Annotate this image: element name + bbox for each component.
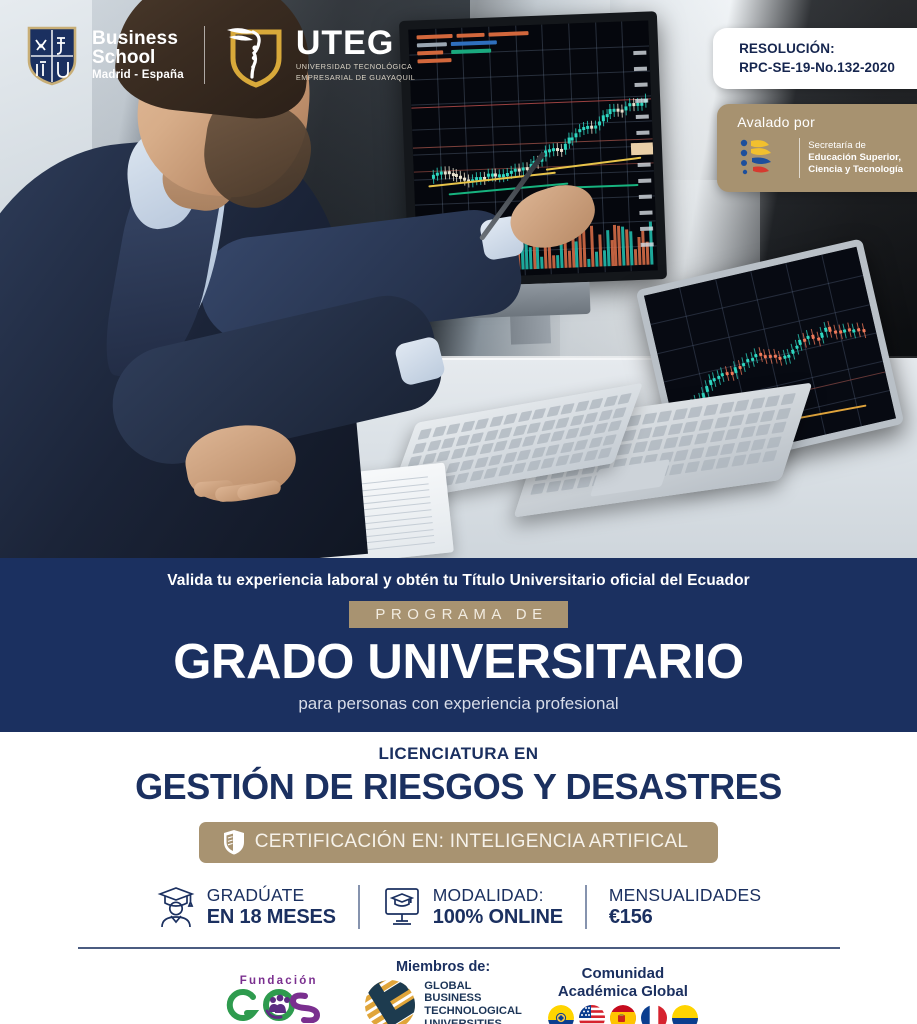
feature-1-top: MODALIDAD: <box>433 885 563 905</box>
uteg-text: UTEG UNIVERSIDAD TECNOLÓGICA EMPRESARIAL… <box>296 27 416 82</box>
flag-colombia <box>672 1005 698 1024</box>
claim-text: Valida tu experiencia laboral y obtén tu… <box>0 572 917 590</box>
comunidad-line2: Académica Global <box>558 983 688 1000</box>
shield-check-icon <box>223 829 245 855</box>
bs-line3: Madrid - España <box>92 70 184 82</box>
gbtu-block: Miembros de: <box>364 959 522 1024</box>
gbtu-l4: UNIVERSITIES <box>424 1018 522 1024</box>
gbtu-text: GLOBAL BUSINESS TECHNOLOGICAL UNIVERSITI… <box>424 980 522 1024</box>
feature-divider-1 <box>358 885 360 929</box>
feature-2-bottom: €156 <box>609 906 761 929</box>
accreditation-badge: Avalado por Secretaría de Educación Supe… <box>717 104 917 192</box>
flag-france <box>641 1005 667 1024</box>
flags-row <box>548 1005 698 1024</box>
uteg-line2: EMPRESARIAL DE GUAYAQUIL <box>296 73 416 82</box>
fundacion-word: Fundación <box>240 975 318 987</box>
avalado-title: Avalado por <box>737 114 903 130</box>
logo-divider <box>204 26 205 84</box>
gos-people-icon <box>223 987 335 1023</box>
graduate-cap-person-icon <box>156 885 196 929</box>
comunidad-title: Comunidad Académica Global <box>558 965 688 1000</box>
feature-divider-2 <box>585 885 587 929</box>
senescyt-line3: Ciencia y Tecnología <box>808 164 903 176</box>
feature-price-text: MENSUALIDADES €156 <box>609 885 761 928</box>
uteg-winged-shield-icon <box>225 22 287 88</box>
uteg-logo: UTEG UNIVERSIDAD TECNOLÓGICA EMPRESARIAL… <box>225 22 416 88</box>
comunidad-line1: Comunidad <box>558 965 688 982</box>
footer-divider <box>78 947 840 949</box>
resolution-label: RESOLUCIÓN: <box>739 39 895 58</box>
miembros-label: Miembros de: <box>396 959 490 975</box>
feature-0-bottom: EN 18 MESES <box>207 906 336 929</box>
main-title: GRADO UNIVERSITARIO <box>0 638 917 687</box>
senescyt-text: Secretaría de Educación Superior, Cienci… <box>808 140 903 176</box>
senescyt-divider <box>799 138 800 178</box>
shield-crest-icon <box>26 24 78 86</box>
senescyt-logo-icon <box>737 136 791 180</box>
senescyt-line2: Educación Superior, <box>808 152 903 164</box>
business-school-name: Business School Madrid - España <box>92 29 184 82</box>
feature-modality: MODALIDAD: 100% ONLINE <box>360 885 585 928</box>
features-row: GRADÚATE EN 18 MESES MODALIDAD: <box>0 885 917 929</box>
partners-footer: Fundación LEGADO DE SOLIDARIDAD Miembros… <box>0 959 917 1024</box>
bs-line1: Business <box>92 29 184 48</box>
headline-band: Valida tu experiencia laboral y obtén tu… <box>0 558 917 732</box>
program-badge: PROGRAMA DE <box>349 601 567 628</box>
feature-0-top: GRADÚATE <box>207 885 336 905</box>
degree-name: GESTIÓN DE RIESGOS Y DESASTRES <box>0 766 917 808</box>
flag-usa <box>579 1005 605 1024</box>
feature-price: MENSUALIDADES €156 <box>587 885 783 928</box>
fundacion-gos-logo: Fundación LEGADO DE SOLIDARIDAD <box>219 975 338 1024</box>
certification-badge: CERTIFICACIÓN EN: INTELIGENCIA ARTIFICAL <box>199 822 719 863</box>
main-subtitle: para personas con experiencia profesiona… <box>0 694 917 714</box>
bs-line2: School <box>92 48 184 67</box>
promotional-poster: Business School Madrid - España UTEG UN <box>0 0 917 1024</box>
senescyt-line1: Secretaría de <box>808 140 903 152</box>
program-details: LICENCIATURA EN GESTIÓN DE RIESGOS Y DES… <box>0 732 917 1024</box>
gbtu-l1: GLOBAL <box>424 980 522 993</box>
feature-modality-text: MODALIDAD: 100% ONLINE <box>433 885 563 928</box>
flag-spain <box>610 1005 636 1024</box>
comunidad-academica-block: Comunidad Académica Global <box>548 965 698 1024</box>
uteg-line1: UNIVERSIDAD TECNOLÓGICA <box>296 62 416 71</box>
certification-text: CERTIFICACIÓN EN: INTELIGENCIA ARTIFICAL <box>255 831 689 853</box>
hero-image: Business School Madrid - España UTEG UN <box>0 0 917 558</box>
feature-duration-text: GRADÚATE EN 18 MESES <box>207 885 336 928</box>
feature-1-bottom: 100% ONLINE <box>433 906 563 929</box>
flag-ecuador <box>548 1005 574 1024</box>
gbtu-l3: TECHNOLOGICAL <box>424 1005 522 1018</box>
online-monitor-icon <box>382 886 422 928</box>
gbtu-l2: BUSINESS <box>424 992 522 1005</box>
resolution-value: RPC-SE-19-No.132-2020 <box>739 58 895 77</box>
header-logos: Business School Madrid - España UTEG UN <box>26 22 415 88</box>
feature-duration: GRADÚATE EN 18 MESES <box>134 885 358 929</box>
uteg-name: UTEG <box>296 27 416 59</box>
degree-level: LICENCIATURA EN <box>0 732 917 764</box>
feature-2-top: MENSUALIDADES <box>609 885 761 905</box>
resolution-badge: RESOLUCIÓN: RPC-SE-19-No.132-2020 <box>713 28 917 89</box>
gbtu-circle-icon <box>364 979 416 1024</box>
